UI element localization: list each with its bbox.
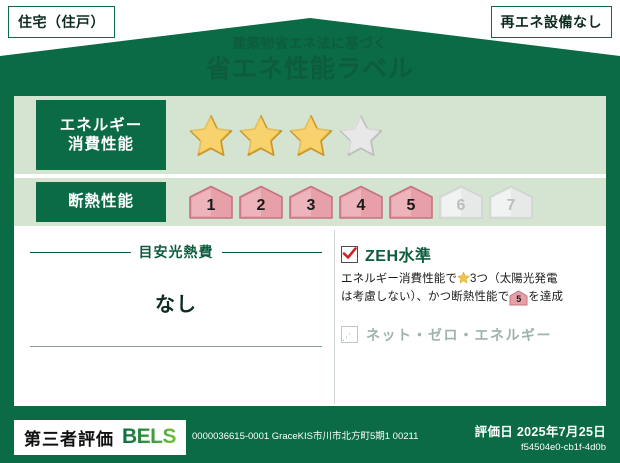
zeh-title-line: ZEH水準 <box>341 242 596 266</box>
insulation-grade-number: 5 <box>407 197 416 219</box>
insulation-performance-row: 断熱性能 1234567 <box>14 178 606 226</box>
energy-performance-label: 住宅（住戸） 再エネ設備なし 建築物省エネ法に基づく 省エネ性能ラベル エネルギ… <box>0 0 620 463</box>
footer-bar: 第三者評価 BELS 0000036615-0001 GraceKIS市川市北方… <box>0 411 620 463</box>
insulation-grade-active: 5 <box>388 185 434 219</box>
utility-cost-heading-text: 目安光熱費 <box>139 242 214 262</box>
utility-cost-panel: 目安光熱費 なし <box>14 230 334 404</box>
lower-section: 目安光熱費 なし ZEH水準 エネルギー消費性能で <box>14 230 606 404</box>
insulation-grade-active: 3 <box>288 185 334 219</box>
rule-left <box>30 252 131 253</box>
main-card: エネルギー 消費性能 断熱性能 1234567 目安光熱費 なし <box>14 96 606 406</box>
utility-cost-value: なし <box>30 288 322 317</box>
energy-performance-label: エネルギー 消費性能 <box>36 100 166 170</box>
inline-star-icon <box>457 271 470 284</box>
title-subtitle: 建築物省エネ法に基づく <box>0 36 620 52</box>
net-zero-energy-checkbox[interactable]: ⋰ <box>341 326 358 343</box>
star-filled-icon <box>288 113 334 157</box>
insulation-grade-number: 3 <box>307 197 316 219</box>
net-zero-energy-label: ネット・ゼロ・エネルギー <box>366 325 552 345</box>
zeh-desc-part1: エネルギー消費性能で <box>341 273 457 285</box>
zeh-panel: ZEH水準 エネルギー消費性能で 3つ（太陽光発電 は考慮しない）、かつ断熱性能… <box>334 230 606 404</box>
evaluation-uid: f54504e0-cb1f-4d0b <box>475 442 606 453</box>
star-filled-icon <box>238 113 284 157</box>
insulation-grade-number: 2 <box>257 197 266 219</box>
zeh-checkbox[interactable] <box>341 246 358 263</box>
insulation-grade-number: 6 <box>457 197 466 219</box>
energy-performance-label-line2: 消費性能 <box>68 135 134 154</box>
rule-right <box>222 252 323 253</box>
insulation-grade-number: 7 <box>507 197 516 219</box>
evaluation-date-block: 評価日 2025年7月25日 f54504e0-cb1f-4d0b <box>475 421 606 453</box>
insulation-grade-inactive: 7 <box>488 185 534 219</box>
zeh-desc-part2: は考慮しない）、かつ断熱性能で <box>341 291 509 303</box>
insulation-grade-active: 2 <box>238 185 284 219</box>
energy-performance-label-line1: エネルギー <box>60 116 143 135</box>
zeh-desc-part3: を達成 <box>528 291 563 303</box>
utility-cost-divider <box>30 346 322 347</box>
insulation-grade-active: 1 <box>188 185 234 219</box>
insulation-grade-scale: 1234567 <box>166 178 606 226</box>
star-rating <box>166 96 606 174</box>
energy-performance-row: エネルギー 消費性能 <box>14 96 606 174</box>
zeh-title: ZEH水準 <box>365 242 432 266</box>
star-filled-icon <box>188 113 234 157</box>
insulation-performance-label: 断熱性能 <box>36 182 166 222</box>
renewable-equipment-tag: 再エネ設備なし <box>491 6 613 38</box>
insulation-performance-label-text: 断熱性能 <box>68 192 134 211</box>
insulation-grade-number: 4 <box>357 197 366 219</box>
checkbox-dots-icon: ⋰ <box>342 332 351 342</box>
inline-house-icon: 5 <box>509 290 528 304</box>
zeh-desc-star-count: 3つ（太陽光発電 <box>470 273 558 285</box>
insulation-grade-active: 4 <box>338 185 384 219</box>
inline-house-grade: 5 <box>509 290 528 308</box>
building-type-tag: 住宅（住戸） <box>8 6 115 38</box>
certificate-id: 0000036615-0001 GraceKIS市川市北方町5期1 00211 <box>192 431 422 444</box>
insulation-grade-number: 1 <box>207 197 216 219</box>
utility-cost-heading: 目安光熱費 <box>30 242 322 262</box>
bels-logo: BELS <box>122 425 176 449</box>
star-empty-icon <box>338 113 384 157</box>
zeh-description: エネルギー消費性能で 3つ（太陽光発電 は考慮しない）、かつ断熱性能で 5 を達… <box>341 271 596 307</box>
page-title: 省エネ性能ラベル <box>0 54 620 85</box>
net-zero-energy-line: ⋰ ネット・ゼロ・エネルギー <box>341 325 596 345</box>
evaluation-date: 評価日 2025年7月25日 <box>475 421 606 440</box>
insulation-grade-inactive: 6 <box>438 185 484 219</box>
bels-badge: 第三者評価 BELS <box>14 420 186 455</box>
third-party-label: 第三者評価 <box>24 425 114 450</box>
title-block: 建築物省エネ法に基づく 省エネ性能ラベル <box>0 36 620 85</box>
